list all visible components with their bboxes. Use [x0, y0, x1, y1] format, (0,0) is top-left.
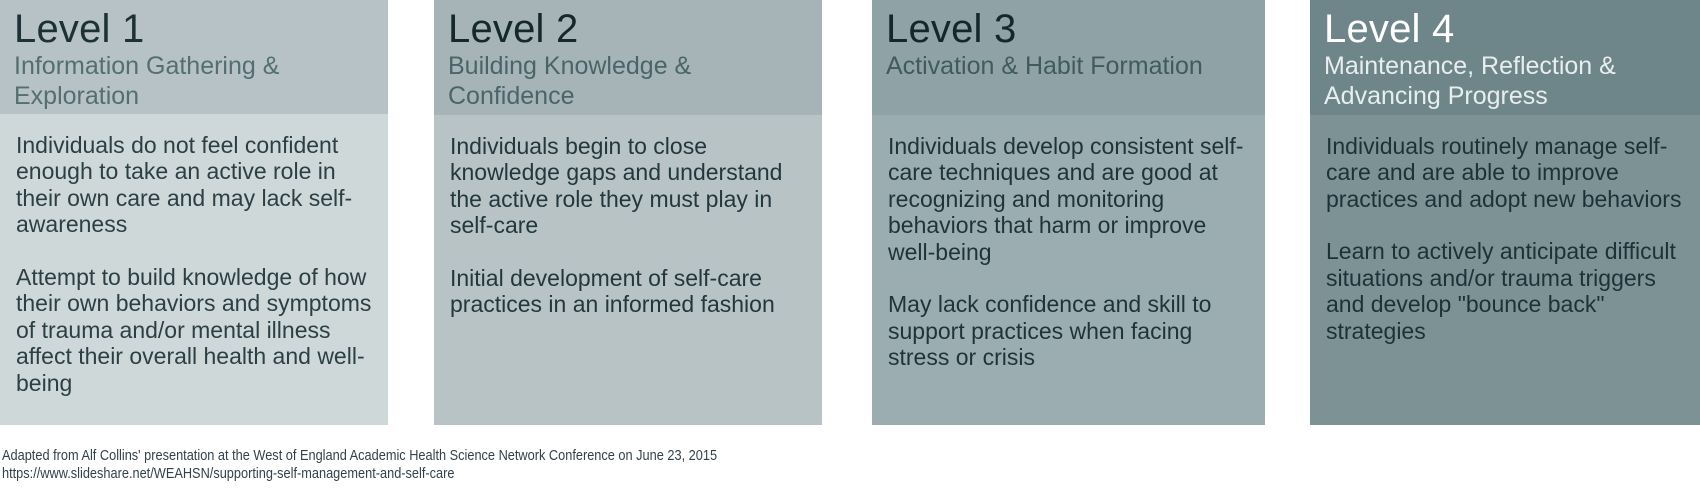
level-card-3-title: Level 3: [886, 8, 1251, 50]
level-card-1-paragraph-1: Individuals do not feel confident enough…: [16, 132, 372, 238]
level-card-2-body: Individuals begin to close knowledge gap…: [434, 115, 822, 425]
level-card-1-body: Individuals do not feel confident enough…: [0, 114, 388, 425]
level-card-1-paragraph-2: Attempt to build knowledge of how their …: [16, 264, 372, 396]
level-card-4-header: Level 4 Maintenance, Reflection & Advanc…: [1310, 0, 1700, 115]
level-card-4-title: Level 4: [1324, 8, 1686, 50]
level-card-2-subtitle: Building Knowledge & Confidence: [448, 52, 808, 111]
level-card-4-paragraph-2: Learn to actively anticipate difficult s…: [1326, 238, 1684, 344]
level-card-1-title: Level 1: [14, 8, 374, 50]
footer-source-line: Adapted from Alf Collins' presentation a…: [2, 448, 882, 466]
level-card-2-paragraph-2: Initial development of self-care practic…: [450, 265, 806, 318]
level-card-2: Level 2 Building Knowledge & Confidence …: [434, 0, 822, 425]
level-card-2-header: Level 2 Building Knowledge & Confidence: [434, 0, 822, 115]
level-card-1-header: Level 1 Information Gathering & Explorat…: [0, 0, 388, 114]
levels-diagram: Level 1 Information Gathering & Explorat…: [0, 0, 1700, 490]
level-card-2-paragraph-1: Individuals begin to close knowledge gap…: [450, 133, 806, 239]
footer-attribution: Adapted from Alf Collins' presentation a…: [2, 448, 1002, 484]
level-card-3: Level 3 Activation & Habit Formation Ind…: [872, 0, 1265, 425]
level-card-4: Level 4 Maintenance, Reflection & Advanc…: [1310, 0, 1700, 425]
level-card-1-subtitle: Information Gathering & Exploration: [14, 52, 374, 111]
level-card-3-header: Level 3 Activation & Habit Formation: [872, 0, 1265, 115]
level-card-2-title: Level 2: [448, 8, 808, 50]
level-card-3-subtitle: Activation & Habit Formation: [886, 52, 1251, 82]
footer-source-url: https://www.slideshare.net/WEAHSN/suppor…: [2, 466, 882, 484]
level-card-1: Level 1 Information Gathering & Explorat…: [0, 0, 388, 425]
level-card-4-subtitle: Maintenance, Reflection & Advancing Prog…: [1324, 52, 1686, 111]
level-card-3-paragraph-2: May lack confidence and skill to support…: [888, 291, 1249, 370]
level-card-3-paragraph-1: Individuals develop consistent self-care…: [888, 133, 1249, 265]
level-card-4-paragraph-1: Individuals routinely manage self-care a…: [1326, 133, 1684, 212]
level-card-3-body: Individuals develop consistent self-care…: [872, 115, 1265, 425]
level-card-4-body: Individuals routinely manage self-care a…: [1310, 115, 1700, 425]
